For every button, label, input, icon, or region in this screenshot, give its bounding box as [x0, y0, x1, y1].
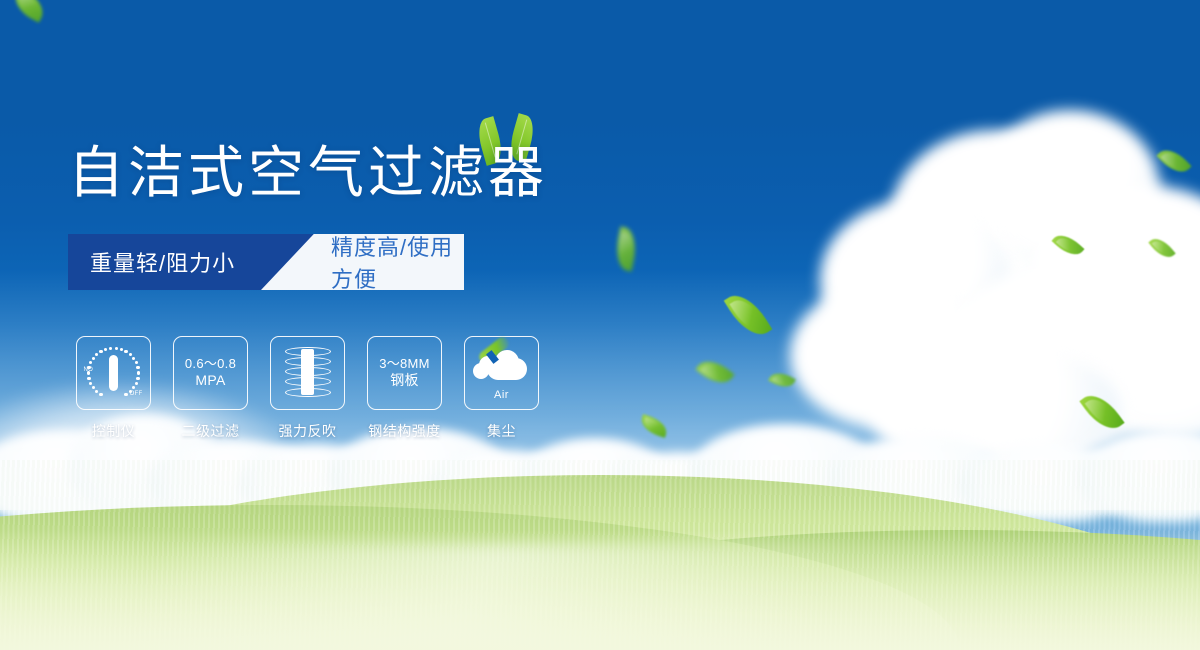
floating-leaf [1079, 387, 1124, 437]
feature-icon-box: 3～8MM 钢板 [367, 336, 442, 410]
pressure-icon: 0.6～0.8 MPA [185, 356, 236, 390]
feature-item-controller[interactable]: NO OFF 控制仪 [76, 336, 151, 441]
floating-leaf [1148, 234, 1175, 263]
floating-leaf [768, 368, 796, 392]
filter-stack-icon [285, 347, 331, 399]
steel-thickness-text: 3～8MM [379, 356, 430, 372]
page-title: 自洁式空气过滤器 [68, 145, 548, 201]
floating-leaf [612, 226, 640, 271]
gauge-label-no: NO [84, 367, 94, 373]
feature-icon-box: 0.6～0.8 MPA [173, 336, 248, 410]
pressure-unit-text: MPA [185, 372, 236, 390]
feature-label: 控制仪 [92, 421, 136, 441]
air-label: Air [473, 389, 531, 401]
gauge-icon: NO OFF [84, 343, 144, 403]
floating-leaf [724, 287, 773, 343]
floating-leaf [1156, 143, 1191, 179]
steel-plate-icon: 3～8MM 钢板 [379, 356, 430, 390]
cloud-air-icon: Air [473, 348, 531, 398]
product-banner: 自洁式空气过滤器 重量轻/阻力小 精度高/使用方便 NO OFF 控制仪 [0, 0, 1200, 650]
feature-item-steel[interactable]: 3～8MM 钢板 钢结构强度 [367, 336, 442, 441]
feature-icon-box: NO OFF [76, 336, 151, 410]
subtitle-bar: 重量轻/阻力小 精度高/使用方便 [68, 234, 464, 290]
floating-leaf [695, 354, 734, 391]
floating-leaf [638, 414, 670, 438]
feature-item-pressure[interactable]: 0.6～0.8 MPA 二级过滤 [173, 336, 248, 441]
gauge-label-off: OFF [130, 391, 143, 397]
pressure-range-text: 0.6～0.8 [185, 356, 236, 372]
subtitle-left-text: 重量轻/阻力小 [68, 246, 235, 278]
feature-label: 钢结构强度 [368, 421, 441, 441]
floating-leaf [1051, 229, 1084, 261]
feature-label: 强力反吹 [279, 421, 337, 441]
feature-label: 集尘 [487, 421, 516, 441]
cumulus-cloud-right [780, 90, 1200, 420]
grass-field [0, 460, 1200, 650]
foreground-light [0, 530, 1200, 650]
feature-item-dust[interactable]: Air 集尘 [464, 336, 539, 441]
steel-material-text: 钢板 [379, 372, 430, 390]
floating-leaf [9, 0, 49, 23]
feature-list: NO OFF 控制仪 0.6～0.8 MPA 二级过滤 强力反吹 [76, 336, 539, 441]
feature-item-backblow[interactable]: 强力反吹 [270, 336, 345, 441]
feature-icon-box: Air [464, 336, 539, 410]
gauge-needle [109, 355, 118, 391]
feature-label: 二级过滤 [182, 421, 240, 441]
feature-icon-box [270, 336, 345, 410]
